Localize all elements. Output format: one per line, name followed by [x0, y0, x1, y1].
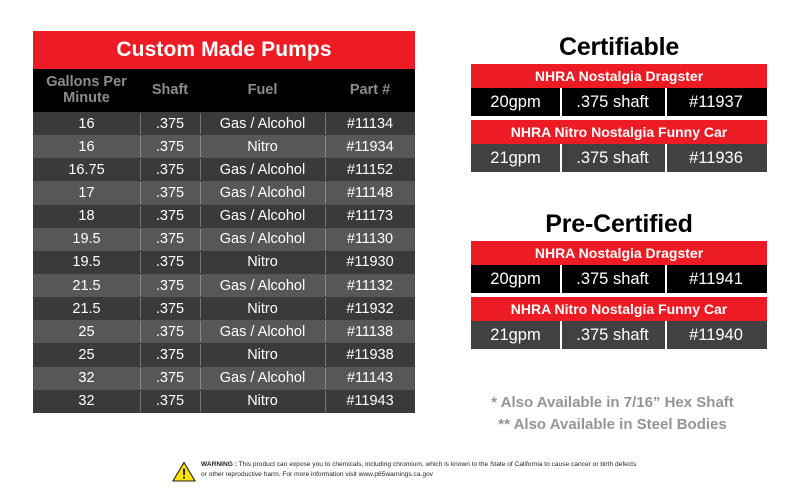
cell-gpm: 19.5 — [33, 251, 140, 274]
group-heading-label: NHRA Nitro Nostalgia Funny Car — [511, 301, 728, 317]
table-header-row: Gallons Per Minute Shaft Fuel Part # — [33, 69, 415, 112]
footnote-hex-shaft: * Also Available in 7/16” Hex Shaft — [455, 392, 770, 414]
group-heading-label: NHRA Nostalgia Dragster — [535, 68, 703, 84]
precertified-title: Pre-Certified — [471, 208, 767, 241]
table-row: 17 .375 Gas / Alcohol #11148 — [33, 181, 415, 204]
cell-shaft: .375 shaft — [560, 321, 665, 349]
cell-part: #11132 — [325, 274, 415, 297]
cell-fuel: Nitro — [200, 297, 325, 320]
certifiable-title: Certifiable — [471, 31, 767, 64]
cell-part: #11148 — [325, 181, 415, 204]
cell-fuel: Nitro — [200, 251, 325, 274]
cell-fuel: Gas / Alcohol — [200, 320, 325, 343]
cell-part: #11937 — [665, 88, 767, 116]
cell-shaft: .375 — [140, 228, 200, 251]
cell-gpm: 20gpm — [471, 88, 560, 116]
table-row: 16 .375 Nitro #11934 — [33, 135, 415, 158]
cell-shaft: .375 — [140, 135, 200, 158]
table-row: 18 .375 Gas / Alcohol #11173 — [33, 205, 415, 228]
cell-part: #11940 — [665, 321, 767, 349]
custom-made-pumps-table: Custom Made Pumps Gallons Per Minute Sha… — [33, 31, 415, 413]
cell-fuel: Nitro — [200, 135, 325, 158]
cell-part: #11930 — [325, 251, 415, 274]
cell-shaft: .375 — [140, 343, 200, 366]
cell-fuel: Gas / Alcohol — [200, 228, 325, 251]
cell-gpm: 25 — [33, 343, 140, 366]
cell-fuel: Nitro — [200, 343, 325, 366]
cell-gpm: 32 — [33, 367, 140, 390]
cell-part: #11936 — [665, 144, 767, 172]
cell-shaft: .375 — [140, 320, 200, 343]
cell-fuel: Gas / Alcohol — [200, 112, 325, 135]
table-row: 19.5 .375 Gas / Alcohol #11130 — [33, 228, 415, 251]
cell-gpm: 25 — [33, 320, 140, 343]
cell-fuel: Gas / Alcohol — [200, 367, 325, 390]
cell-part: #11932 — [325, 297, 415, 320]
table-row: 25 .375 Nitro #11938 — [33, 343, 415, 366]
table-row: 19.5 .375 Nitro #11930 — [33, 251, 415, 274]
table-row: 21.5 .375 Nitro #11932 — [33, 297, 415, 320]
cell-gpm: 17 — [33, 181, 140, 204]
page-title: Custom Made Pumps — [116, 38, 331, 62]
cell-shaft: .375 — [140, 297, 200, 320]
certifiable-section: Certifiable NHRA Nostalgia Dragster 20gp… — [471, 31, 767, 172]
cell-part: #11173 — [325, 205, 415, 228]
cell-shaft: .375 shaft — [560, 265, 665, 293]
cell-part: #11130 — [325, 228, 415, 251]
prop65-label: WARNING : — [201, 461, 237, 468]
cell-gpm: 21.5 — [33, 297, 140, 320]
cell-shaft: .375 — [140, 390, 200, 413]
column-header-part-number: Part # — [325, 69, 415, 112]
certifiable-row-dragster: 20gpm .375 shaft #11937 — [471, 88, 767, 116]
certifiable-group-heading-dragster: NHRA Nostalgia Dragster — [471, 64, 767, 88]
cell-gpm: 19.5 — [33, 228, 140, 251]
precertified-row-dragster: 20gpm .375 shaft #11941 — [471, 265, 767, 293]
cell-part: #11934 — [325, 135, 415, 158]
cell-part: #11938 — [325, 343, 415, 366]
cell-part: #11138 — [325, 320, 415, 343]
precertified-section: Pre-Certified NHRA Nostalgia Dragster 20… — [471, 208, 767, 349]
cell-gpm: 21gpm — [471, 144, 560, 172]
cell-shaft: .375 — [140, 112, 200, 135]
cell-fuel: Gas / Alcohol — [200, 205, 325, 228]
precertified-group-heading-dragster: NHRA Nostalgia Dragster — [471, 241, 767, 265]
cell-shaft: .375 — [140, 367, 200, 390]
warning-triangle-icon — [172, 461, 196, 487]
cell-fuel: Gas / Alcohol — [200, 274, 325, 297]
cell-shaft: .375 shaft — [560, 144, 665, 172]
footnotes: * Also Available in 7/16” Hex Shaft ** A… — [455, 392, 770, 436]
cell-fuel: Gas / Alcohol — [200, 158, 325, 181]
cell-gpm: 20gpm — [471, 265, 560, 293]
cell-part: #11943 — [325, 390, 415, 413]
table-row: 32 .375 Gas / Alcohol #11143 — [33, 367, 415, 390]
table-row: 16 .375 Gas / Alcohol #11134 — [33, 112, 415, 135]
cell-gpm: 21gpm — [471, 321, 560, 349]
cell-fuel: Gas / Alcohol — [200, 181, 325, 204]
table-row: 32 .375 Nitro #11943 — [33, 390, 415, 413]
cell-fuel: Nitro — [200, 390, 325, 413]
cell-gpm: 16.75 — [33, 158, 140, 181]
cell-shaft: .375 — [140, 274, 200, 297]
cell-part: #11941 — [665, 265, 767, 293]
cell-gpm: 16 — [33, 112, 140, 135]
group-heading-label: NHRA Nitro Nostalgia Funny Car — [511, 124, 728, 140]
table-row: 16.75 .375 Gas / Alcohol #11152 — [33, 158, 415, 181]
cell-part: #11143 — [325, 367, 415, 390]
group-heading-label: NHRA Nostalgia Dragster — [535, 245, 703, 261]
cell-shaft: .375 — [140, 205, 200, 228]
table-row: 21.5 .375 Gas / Alcohol #11132 — [33, 274, 415, 297]
precertified-row-funny-car: 21gpm .375 shaft #11940 — [471, 321, 767, 349]
cell-part: #11152 — [325, 158, 415, 181]
cell-shaft: .375 — [140, 158, 200, 181]
cell-shaft: .375 — [140, 251, 200, 274]
precertified-group-heading-funny-car: NHRA Nitro Nostalgia Funny Car — [471, 297, 767, 321]
table-title-band: Custom Made Pumps — [33, 31, 415, 69]
cell-gpm: 21.5 — [33, 274, 140, 297]
prop65-text: This product can expose you to chemicals… — [201, 461, 636, 478]
cell-part: #11134 — [325, 112, 415, 135]
prop65-warning: WARNING : This product can expose you to… — [172, 460, 642, 487]
cell-gpm: 18 — [33, 205, 140, 228]
table-row: 25 .375 Gas / Alcohol #11138 — [33, 320, 415, 343]
column-header-shaft: Shaft — [140, 69, 200, 112]
certifiable-group-heading-funny-car: NHRA Nitro Nostalgia Funny Car — [471, 120, 767, 144]
footnote-steel-bodies: ** Also Available in Steel Bodies — [455, 414, 770, 436]
column-header-gallons-per-minute: Gallons Per Minute — [33, 69, 140, 112]
cell-gpm: 16 — [33, 135, 140, 158]
cell-shaft: .375 shaft — [560, 88, 665, 116]
cell-gpm: 32 — [33, 390, 140, 413]
certifiable-row-funny-car: 21gpm .375 shaft #11936 — [471, 144, 767, 172]
column-header-fuel: Fuel — [200, 69, 325, 112]
cell-shaft: .375 — [140, 181, 200, 204]
